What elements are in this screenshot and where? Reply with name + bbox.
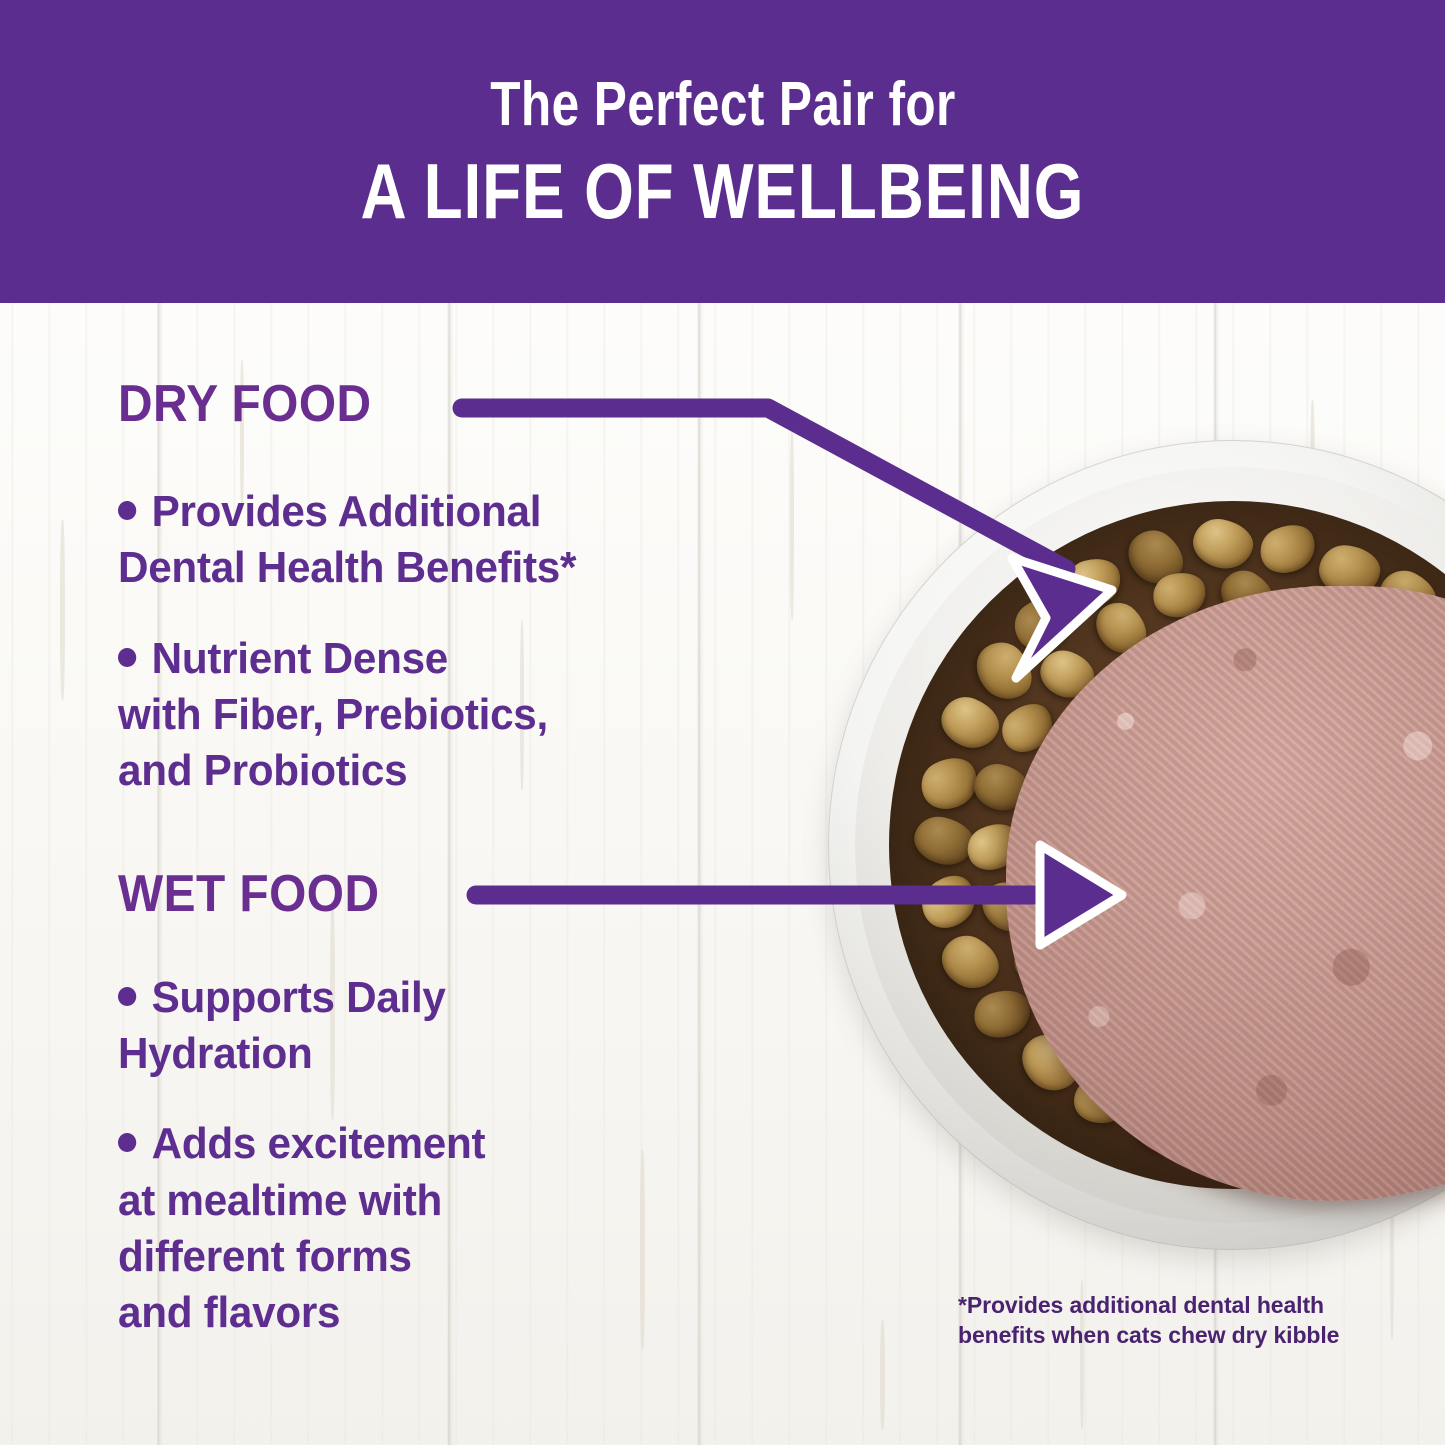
bullet-dry-1-line2: Dental Health Benefits* bbox=[118, 543, 576, 592]
bullet-dry-2-line3: and Probiotics bbox=[118, 746, 407, 795]
bullet-wet-1-line2: Hydration bbox=[118, 1029, 313, 1078]
footnote-disclaimer: *Provides additional dental health benef… bbox=[958, 1290, 1378, 1351]
bullet-dry-2-line2: with Fiber, Prebiotics, bbox=[118, 690, 548, 739]
bullet-dot-icon bbox=[118, 501, 136, 520]
bullet-wet-1-line1: Supports Daily bbox=[152, 973, 446, 1022]
wet-food-pate bbox=[1006, 586, 1445, 1202]
bullet-wet-1: Supports Daily Hydration bbox=[118, 970, 771, 1083]
bullet-dot-icon bbox=[118, 1133, 136, 1152]
bullet-dry-2: Nutrient Dense with Fiber, Prebiotics, a… bbox=[118, 631, 771, 800]
bullet-wet-2-line2: at mealtime with bbox=[118, 1176, 442, 1225]
bullet-dot-icon bbox=[118, 648, 136, 667]
bullet-wet-2-line4: and flavors bbox=[118, 1288, 340, 1337]
pate-texture bbox=[1006, 586, 1445, 1202]
bullet-wet-2: Adds excitement at mealtime with differe… bbox=[118, 1116, 771, 1341]
footnote-line1: *Provides additional dental health bbox=[958, 1290, 1378, 1320]
header-title-line2: A LIFE OF WELLBEING bbox=[361, 152, 1085, 230]
section-heading-wet-food: WET FOOD bbox=[118, 868, 744, 920]
bullet-dry-2-line1: Nutrient Dense bbox=[152, 634, 448, 683]
bullet-wet-2-line1: Adds excitement bbox=[152, 1119, 486, 1168]
header-banner: The Perfect Pair for A LIFE OF WELLBEING bbox=[0, 0, 1445, 303]
header-title-line1: The Perfect Pair for bbox=[490, 74, 956, 136]
footnote-line2: benefits when cats chew dry kibble bbox=[958, 1320, 1378, 1350]
benefits-copy-column: DRY FOOD Provides Additional Dental Heal… bbox=[118, 378, 798, 1341]
infographic-canvas: The Perfect Pair for A LIFE OF WELLBEING bbox=[0, 0, 1445, 1445]
pet-food-bowl-photo bbox=[828, 440, 1445, 1250]
bullet-dry-1: Provides Additional Dental Health Benefi… bbox=[118, 484, 771, 597]
section-heading-dry-food: DRY FOOD bbox=[118, 378, 744, 430]
bullet-wet-2-line3: different forms bbox=[118, 1232, 412, 1281]
bullet-dry-1-line1: Provides Additional bbox=[152, 487, 542, 536]
bullet-dot-icon bbox=[118, 987, 136, 1006]
